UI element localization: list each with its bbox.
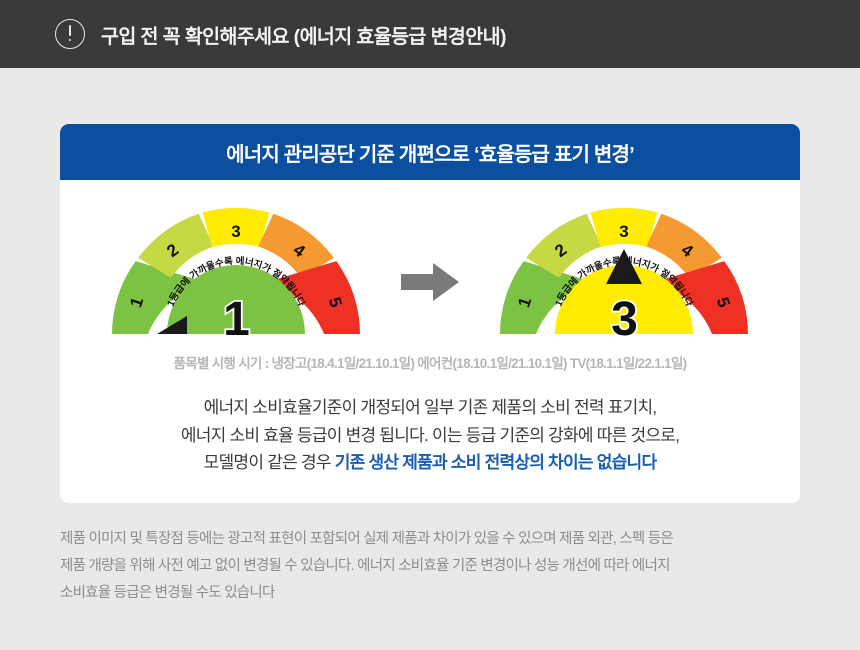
- transition-arrow-icon: [399, 260, 461, 304]
- svg-text:3: 3: [231, 222, 240, 241]
- footer-disclaimer-line-3: 소비효율 등급은 변경될 수도 있습니다: [60, 580, 802, 607]
- notice-paragraph-highlight: 기존 생산 제품과 소비 전력상의 차이는 없습니다: [335, 453, 657, 472]
- notice-paragraph-line-3-plain: 모델명이 같은 경우: [204, 453, 335, 472]
- notice-paragraph: 에너지 소비효율기준이 개정되어 일부 기존 제품의 소비 전력 표기치, 에너…: [60, 394, 800, 477]
- gauge-comparison-row: 1 2 3 4 5 1등급에 가까울수록 에너지가 절약됩니다: [60, 180, 800, 348]
- notice-banner-title: 에너지 관리공단 기준 개편으로 ‘효율등급 표기 변경’: [226, 138, 634, 167]
- before-gauge: 1 2 3 4 5 1등급에 가까울수록 에너지가 절약됩니다: [107, 204, 365, 346]
- notice-card: 에너지 관리공단 기준 개편으로 ‘효율등급 표기 변경’: [60, 124, 800, 503]
- footer-disclaimer-line-2: 제품 개량을 위해 사전 예고 없이 변경될 수 있습니다. 에너지 소비효율 …: [60, 553, 802, 580]
- notice-card-body: 1 2 3 4 5 1등급에 가까울수록 에너지가 절약됩니다: [60, 180, 800, 503]
- svg-text:3: 3: [619, 222, 628, 241]
- notice-paragraph-line-2: 에너지 소비 효율 등급이 변경 됩니다. 이는 등급 기준의 강화에 따른 것…: [60, 422, 800, 450]
- footer-disclaimer-line-1: 제품 이미지 및 특장점 등에는 광고적 표현이 포함되어 실제 제품과 차이가…: [60, 526, 802, 553]
- schedule-note: 품목별 시행 시기 : 냉장고(18.4.1일/21.10.1일) 에어컨(18…: [60, 352, 800, 372]
- page-header: 구입 전 꼭 확인해주세요 (에너지 효율등급 변경안내): [0, 0, 860, 68]
- notice-paragraph-line-3: 모델명이 같은 경우 기존 생산 제품과 소비 전력상의 차이는 없습니다: [60, 449, 800, 477]
- footer-disclaimer: 제품 이미지 및 특장점 등에는 광고적 표현이 포함되어 실제 제품과 차이가…: [60, 526, 802, 606]
- exclamation-circle-icon: [55, 19, 85, 49]
- notice-paragraph-line-1: 에너지 소비효율기준이 개정되어 일부 기존 제품의 소비 전력 표기치,: [60, 394, 800, 422]
- after-gauge: 1 2 3 4 5 1등급에 가까울수록 에너지가 절약됩니다 3: [495, 204, 753, 346]
- page-header-title: 구입 전 꼭 확인해주세요 (에너지 효율등급 변경안내): [101, 20, 506, 49]
- notice-banner: 에너지 관리공단 기준 개편으로 ‘효율등급 표기 변경’: [60, 124, 800, 180]
